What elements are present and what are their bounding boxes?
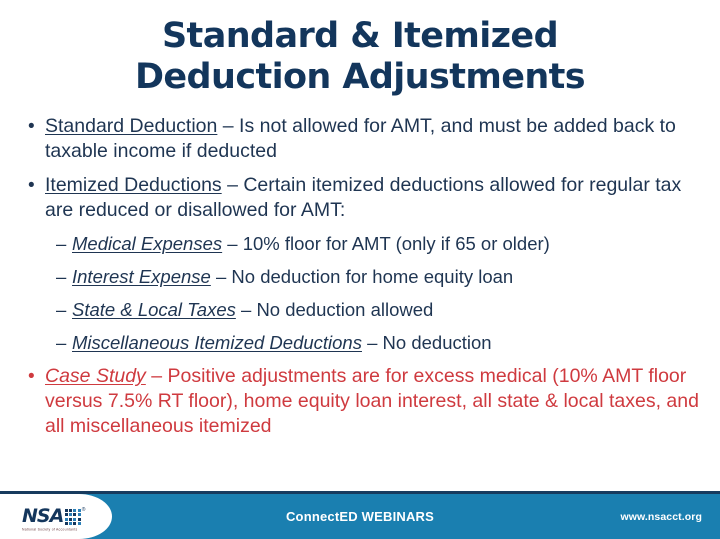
bullet-text: Case Study – Positive adjustments are fo… — [45, 364, 702, 439]
logo-panel: NSA ® National Society of Accountants — [0, 494, 112, 539]
bullet-text: Interest Expense – No deduction for home… — [72, 265, 702, 289]
title-line-2: Deduction Adjustments — [30, 57, 690, 98]
bullet-lead-term: Medical Expenses — [72, 233, 222, 254]
bullet-item-interest-expense: – Interest Expense – No deduction for ho… — [22, 265, 702, 289]
bullet-lead-term: Miscellaneous Itemized Deductions — [72, 332, 362, 353]
bullet-body-text: – No deduction for home equity loan — [211, 266, 513, 287]
dash-marker-icon: – — [56, 298, 72, 322]
trademark-icon: ® — [82, 507, 86, 513]
bullet-lead-term: State & Local Taxes — [72, 299, 236, 320]
dash-marker-icon: – — [56, 232, 72, 256]
slide: Standard & Itemized Deduction Adjustment… — [0, 0, 720, 539]
bullet-item-case-study: • Case Study – Positive adjustments are … — [22, 364, 702, 439]
slide-footer: NSA ® National Society of Accountants Co… — [0, 491, 720, 539]
dot-grid-icon — [65, 509, 81, 525]
bullet-text: Miscellaneous Itemized Deductions – No d… — [72, 331, 702, 355]
bullet-text: Medical Expenses – 10% floor for AMT (on… — [72, 232, 702, 256]
footer-url: www.nsacct.org — [620, 511, 702, 523]
bullet-text: Itemized Deductions – Certain itemized d… — [45, 173, 702, 223]
bullet-lead-term: Interest Expense — [72, 266, 211, 287]
page-title: Standard & Itemized Deduction Adjustment… — [0, 0, 720, 102]
dash-marker-icon: – — [56, 331, 72, 355]
bullet-lead-term: Itemized Deductions — [45, 174, 222, 196]
bullet-body-text: – No deduction — [362, 332, 492, 353]
bullet-body-text: – No deduction allowed — [236, 299, 433, 320]
bullet-item-miscellaneous-itemized-deductions: – Miscellaneous Itemized Deductions – No… — [22, 331, 702, 355]
nsa-tagline: National Society of Accountants — [22, 527, 77, 532]
bullet-item-state-local-taxes: – State & Local Taxes – No deduction all… — [22, 298, 702, 322]
bullet-text: State & Local Taxes – No deduction allow… — [72, 298, 702, 322]
title-line-1: Standard & Itemized — [30, 16, 690, 57]
bullet-body-text: – 10% floor for AMT (only if 65 or older… — [222, 233, 550, 254]
bullet-lead-term: Standard Deduction — [45, 115, 217, 137]
dash-marker-icon: – — [56, 265, 72, 289]
bullet-marker-icon: • — [28, 114, 45, 139]
nsa-wordmark: NSA — [22, 507, 63, 526]
footer-brand-text: ConnectED WEBINARS — [286, 509, 434, 524]
bullet-list: • Standard Deduction – Is not allowed fo… — [0, 102, 720, 491]
bullet-lead-term: Case Study — [45, 365, 146, 387]
bullet-item-medical-expenses: – Medical Expenses – 10% floor for AMT (… — [22, 232, 702, 256]
bullet-marker-icon: • — [28, 364, 45, 389]
bullet-text: Standard Deduction – Is not allowed for … — [45, 114, 702, 164]
bullet-marker-icon: • — [28, 173, 45, 198]
nsa-logo: NSA ® National Society of Accountants — [22, 507, 85, 526]
bullet-item-itemized-deductions: • Itemized Deductions – Certain itemized… — [22, 173, 702, 223]
bullet-item-standard-deduction: • Standard Deduction – Is not allowed fo… — [22, 114, 702, 164]
